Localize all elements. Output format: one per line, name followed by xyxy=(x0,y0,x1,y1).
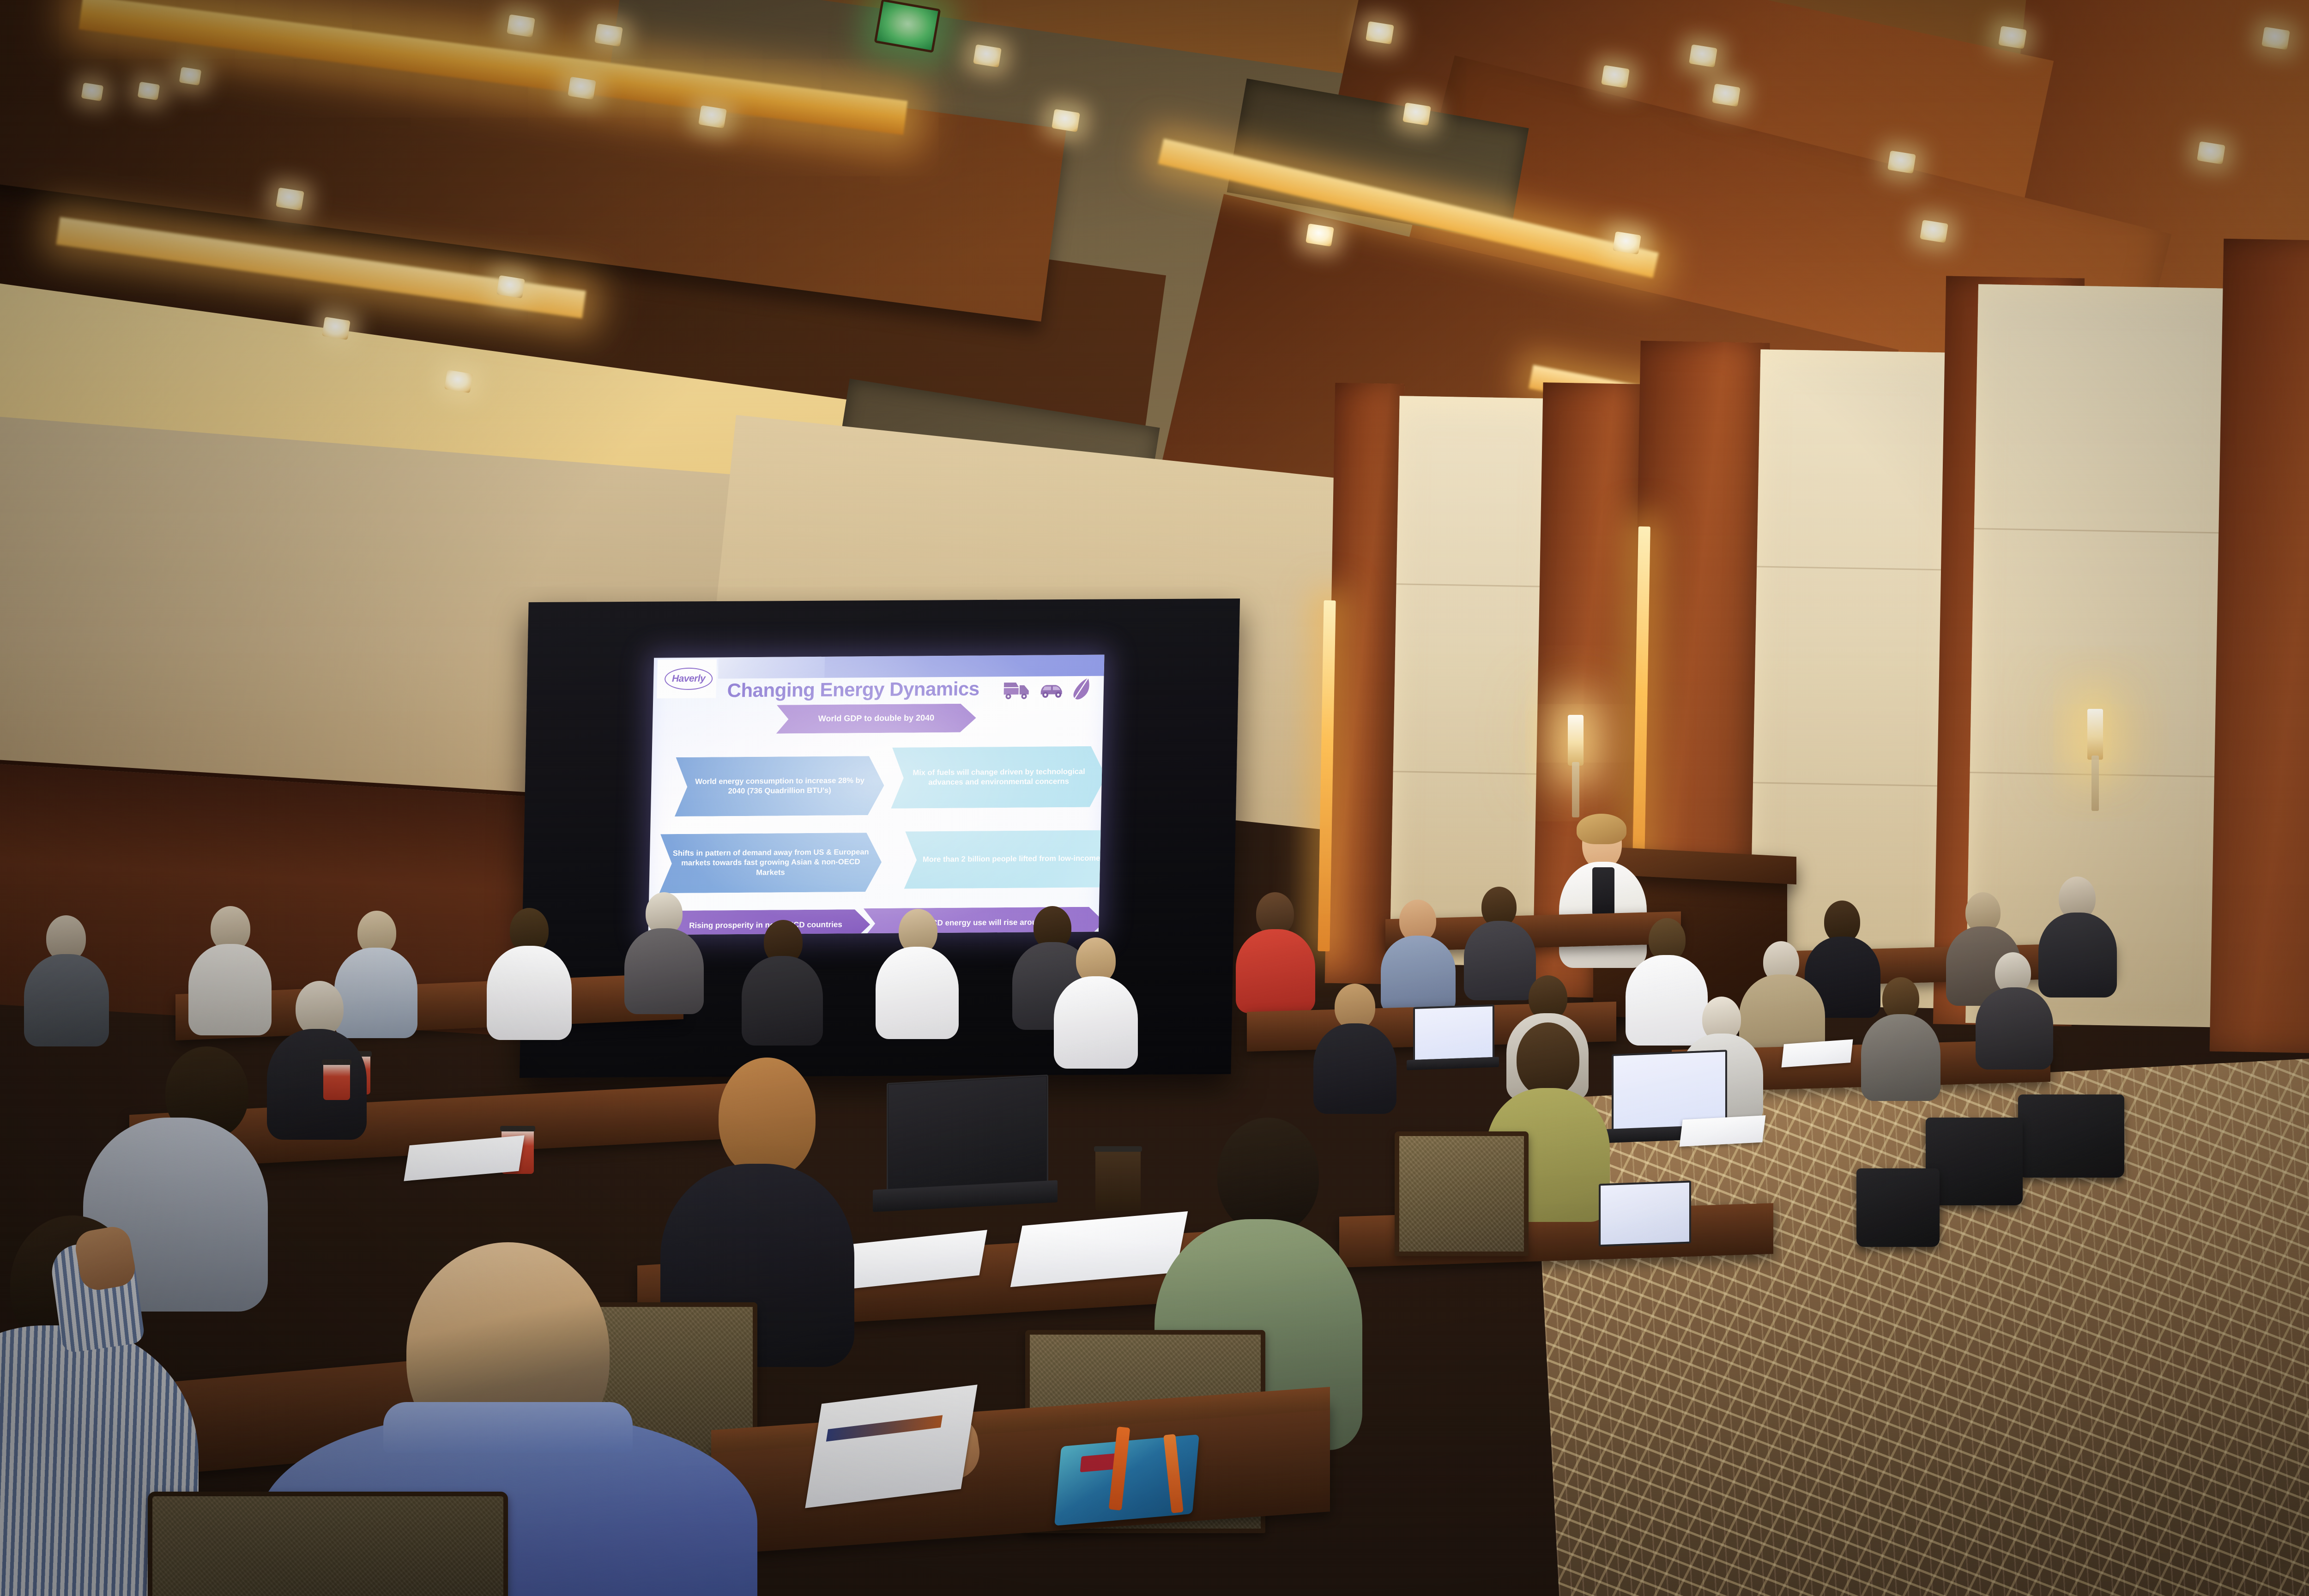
recessed-square-downlight xyxy=(81,83,104,101)
attendee-white-shirt xyxy=(1054,976,1138,1069)
recessed-square-downlight xyxy=(276,187,304,211)
recessed-square-downlight xyxy=(698,105,727,128)
attendee-torso xyxy=(1464,921,1536,1000)
attendee-torso xyxy=(1861,1014,1940,1101)
leaf-icon xyxy=(1072,677,1091,701)
wall-fabric-panel xyxy=(1390,396,1552,967)
slide-box-consumption: World energy consumption to increase 28%… xyxy=(675,756,885,816)
attendee-head xyxy=(296,981,344,1036)
truck-icon xyxy=(1003,679,1032,700)
recessed-square-downlight xyxy=(1689,44,1717,67)
printed-handout xyxy=(1680,1115,1766,1147)
attendee-torso xyxy=(1381,936,1456,1013)
coffee-cup-brewed xyxy=(1095,1149,1141,1211)
printed-handout xyxy=(805,1384,977,1508)
attendee-white-shirt xyxy=(876,947,959,1039)
laptop-screen xyxy=(889,1076,1046,1191)
slide-box-income: More than 2 billion people lifted from l… xyxy=(904,830,1105,889)
projection-screen: Haverly Changing Energy Dynamics xyxy=(648,655,1105,935)
attendee-head xyxy=(1217,1118,1319,1233)
recessed-square-downlight xyxy=(1366,21,1394,44)
attendee-red-shirt xyxy=(1236,929,1315,1013)
coffee-cup xyxy=(323,1062,350,1100)
recessed-square-downlight xyxy=(1998,26,2027,49)
attendee-torso xyxy=(188,944,272,1035)
attendee-head xyxy=(1335,984,1375,1030)
recessed-square-downlight xyxy=(444,370,473,393)
laptop[interactable] xyxy=(1599,1181,1691,1247)
company-logo: Haverly xyxy=(657,659,717,699)
attendee-torso xyxy=(2038,913,2117,997)
wall-sconce xyxy=(1568,715,1584,766)
chair xyxy=(148,1492,508,1596)
slide-box-gdp: World GDP to double by 2040 xyxy=(776,704,976,734)
recessed-square-downlight xyxy=(179,67,202,85)
cup-lid xyxy=(1094,1146,1142,1152)
recessed-square-downlight xyxy=(2197,141,2225,164)
recessed-square-downlight xyxy=(1920,220,1948,243)
wall-fabric-panel xyxy=(1965,284,2237,1028)
attendee-torso xyxy=(1313,1023,1396,1114)
cup-lid xyxy=(322,1059,351,1065)
recessed-square-downlight xyxy=(1402,103,1431,126)
attendee-torso xyxy=(1976,987,2053,1070)
attendee-white-shirt xyxy=(487,946,572,1040)
laptop[interactable] xyxy=(887,1075,1048,1193)
recessed-square-downlight xyxy=(568,77,596,100)
slide-box-demand: Shifts in pattern of demand away from US… xyxy=(659,833,882,893)
car-icon xyxy=(1038,679,1066,699)
logo-text: Haverly xyxy=(665,669,712,689)
slide-header-band-light xyxy=(718,657,825,679)
attendee-plaid-shirt xyxy=(334,948,417,1038)
shirt-collar xyxy=(383,1402,633,1453)
recessed-square-downlight xyxy=(594,24,623,47)
laptop-screen xyxy=(1601,1183,1689,1245)
slide-title: Changing Energy Dynamics xyxy=(727,678,979,702)
recessed-square-downlight xyxy=(138,82,160,100)
chair xyxy=(1395,1131,1529,1256)
recessed-square-downlight xyxy=(322,317,351,340)
recessed-square-downlight xyxy=(1306,224,1334,247)
attendee-head-long-hair xyxy=(1517,1022,1579,1096)
recessed-square-downlight xyxy=(1887,151,1916,174)
logo-oval-icon: Haverly xyxy=(665,668,713,690)
slide-box-fuelmix: Mix of fuels will change driven by techn… xyxy=(891,746,1104,809)
recessed-square-downlight xyxy=(2261,27,2290,50)
laptop[interactable] xyxy=(1413,1004,1494,1062)
recessed-square-downlight xyxy=(1712,84,1741,107)
slide-box-prosperity: Rising prosperity in non-OECD countries xyxy=(661,909,870,935)
attendee-torso xyxy=(624,928,704,1014)
recessed-square-downlight xyxy=(973,44,1002,67)
attendee-head-long-hair xyxy=(719,1058,816,1178)
attendee-torso xyxy=(267,1029,367,1140)
laptop-bag xyxy=(1856,1168,1940,1247)
laptop-bag xyxy=(2018,1094,2124,1178)
conference-room-photo: Haverly Changing Energy Dynamics xyxy=(0,0,2309,1596)
wall-sconce-stem xyxy=(1572,762,1579,817)
wall-pier xyxy=(2210,239,2309,1055)
presenter-top-inner xyxy=(1592,867,1614,915)
attendee-torso xyxy=(24,954,109,1046)
laptop-screen xyxy=(1415,1006,1493,1060)
wall-sconce xyxy=(2087,709,2103,760)
wall-sconce-stem xyxy=(2091,756,2099,811)
presentation-slide: Haverly Changing Energy Dynamics xyxy=(648,655,1105,935)
slide-icon-row xyxy=(1003,677,1091,701)
cup-lid xyxy=(500,1126,535,1131)
recessed-square-downlight xyxy=(1601,65,1630,88)
presenter-hair xyxy=(1577,814,1626,844)
recessed-square-downlight xyxy=(507,14,535,37)
recessed-square-downlight xyxy=(496,275,525,298)
attendee-white-shirt xyxy=(1626,955,1708,1046)
attendee-torso xyxy=(742,956,823,1046)
recessed-square-downlight xyxy=(1052,109,1080,132)
recessed-square-downlight xyxy=(1613,231,1641,254)
laptop-bag xyxy=(1926,1118,2023,1205)
